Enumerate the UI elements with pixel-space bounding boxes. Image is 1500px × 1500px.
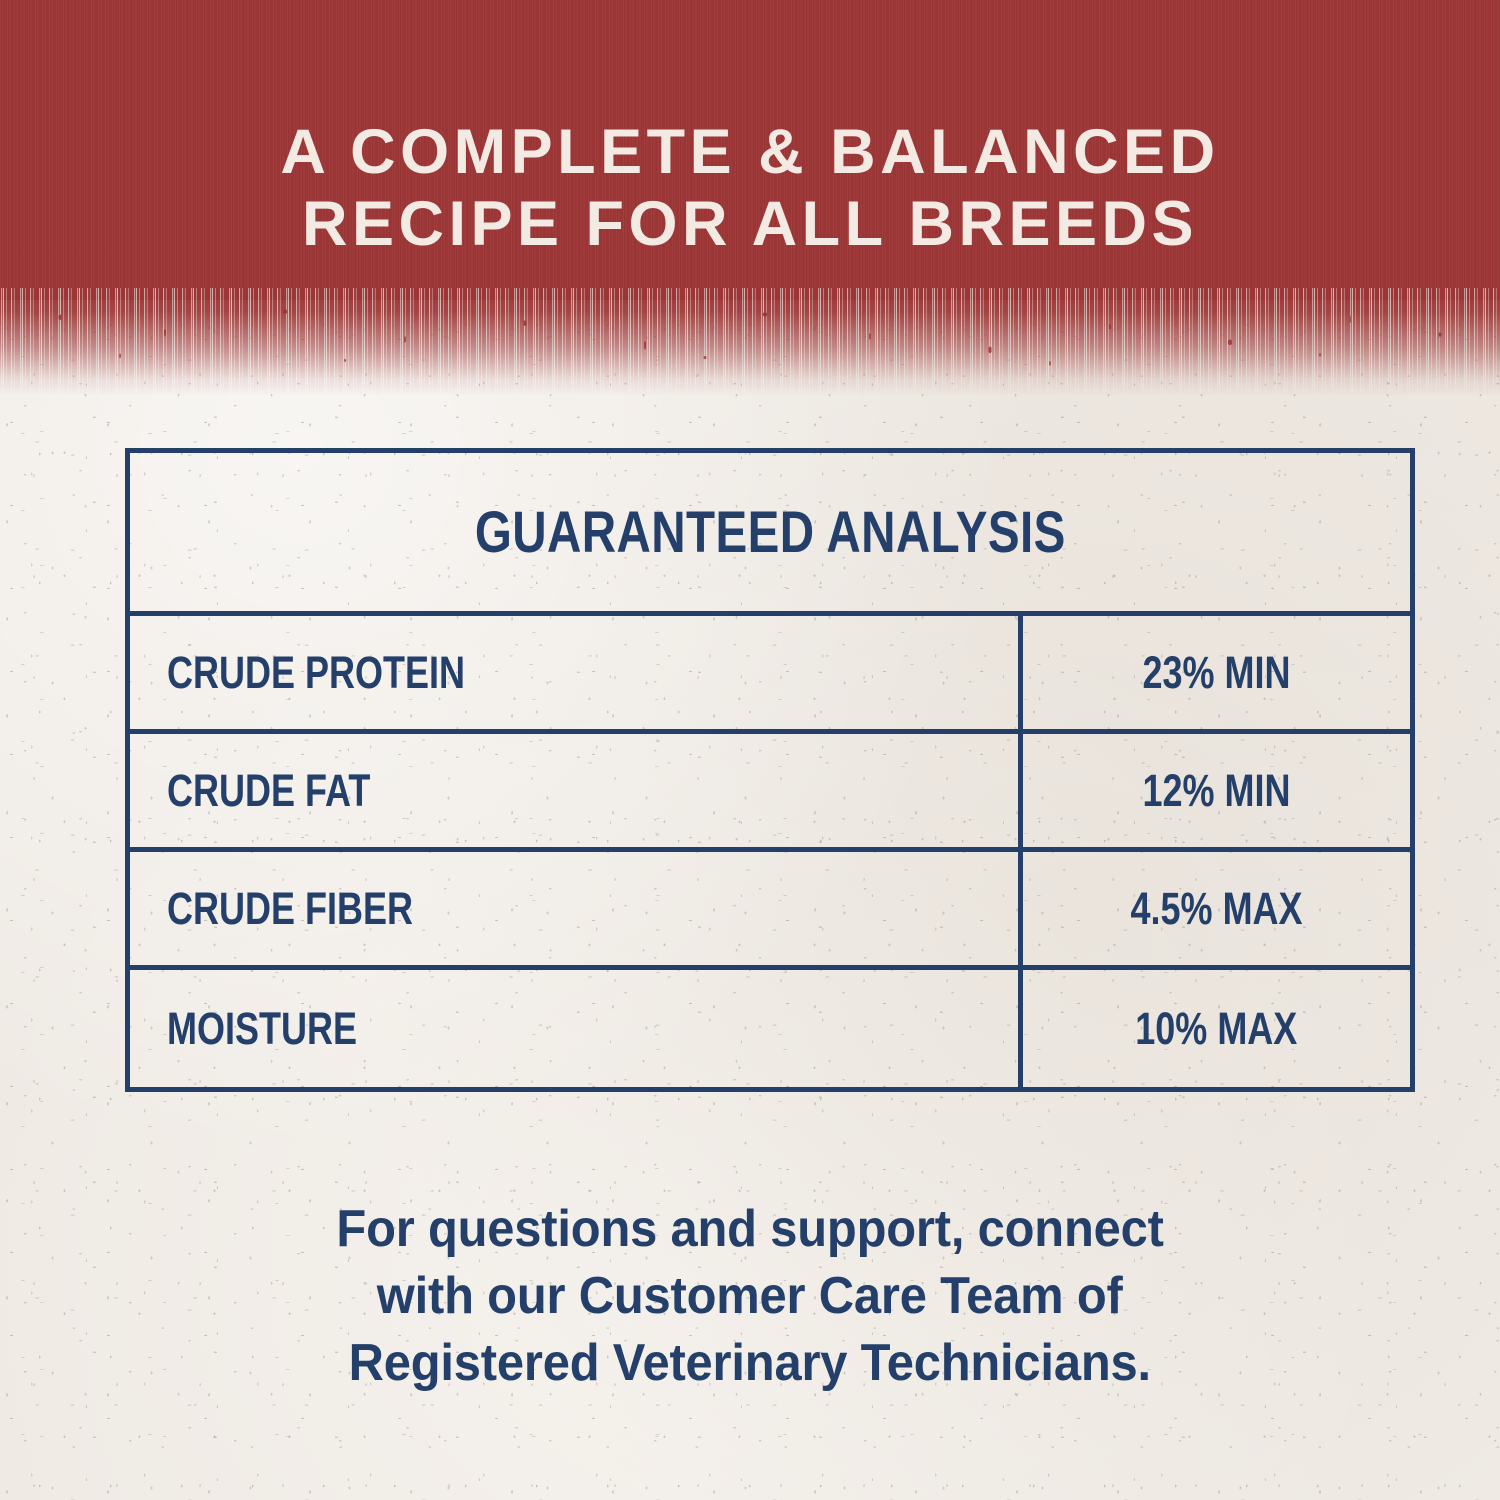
nutrient-label-text: CRUDE PROTEIN	[167, 647, 465, 699]
nutrient-value-cell: 4.5% MAX	[1023, 852, 1410, 965]
customer-care-note-line-2: with our Customer Care Team of	[150, 1263, 1350, 1330]
guaranteed-analysis-title-text: GUARANTEED ANALYSIS	[475, 499, 1066, 566]
product-panel: A COMPLETE & BALANCED RECIPE FOR ALL BRE…	[0, 0, 1500, 1500]
customer-care-note-line-1: For questions and support, connect	[150, 1196, 1350, 1263]
guaranteed-analysis-table: GUARANTEED ANALYSIS CRUDE PROTEIN 23% MI…	[125, 448, 1415, 1092]
customer-care-note: For questions and support, connect with …	[150, 1196, 1350, 1397]
nutrient-label-cell: CRUDE FIBER	[130, 852, 1023, 965]
nutrient-value-cell: 12% MIN	[1023, 734, 1410, 847]
nutrient-value-cell: 23% MIN	[1023, 616, 1410, 729]
guaranteed-analysis-title: GUARANTEED ANALYSIS	[130, 453, 1410, 616]
table-row: CRUDE PROTEIN 23% MIN	[130, 616, 1410, 734]
page-title-line-2: RECIPE FOR ALL BREEDS	[0, 188, 1500, 260]
nutrient-label-cell: CRUDE PROTEIN	[130, 616, 1023, 729]
page-title: A COMPLETE & BALANCED RECIPE FOR ALL BRE…	[0, 116, 1500, 260]
table-row: CRUDE FIBER 4.5% MAX	[130, 852, 1410, 970]
customer-care-note-text-2: with our Customer Care Team of	[377, 1263, 1123, 1330]
nutrient-value-text: 10% MAX	[1135, 1003, 1297, 1055]
table-row: CRUDE FAT 12% MIN	[130, 734, 1410, 852]
nutrient-value-text: 4.5% MAX	[1130, 883, 1302, 935]
nutrient-label-text: CRUDE FIBER	[167, 883, 413, 935]
nutrient-label-text: MOISTURE	[167, 1003, 357, 1055]
nutrient-label-text: CRUDE FAT	[167, 765, 370, 817]
nutrient-value-cell: 10% MAX	[1023, 970, 1410, 1088]
customer-care-note-line-3: Registered Veterinary Technicians.	[150, 1330, 1350, 1397]
nutrient-value-text: 23% MIN	[1142, 647, 1290, 699]
customer-care-note-text-1: For questions and support, connect	[336, 1196, 1163, 1263]
page-title-line-1: A COMPLETE & BALANCED	[0, 116, 1500, 188]
band-torn-edge-flecks	[0, 300, 1500, 396]
nutrient-value-text: 12% MIN	[1142, 765, 1290, 817]
table-row: MOISTURE 10% MAX	[130, 970, 1410, 1088]
nutrient-label-cell: MOISTURE	[130, 970, 1023, 1088]
nutrient-label-cell: CRUDE FAT	[130, 734, 1023, 847]
customer-care-note-text-3: Registered Veterinary Technicians.	[349, 1330, 1151, 1397]
